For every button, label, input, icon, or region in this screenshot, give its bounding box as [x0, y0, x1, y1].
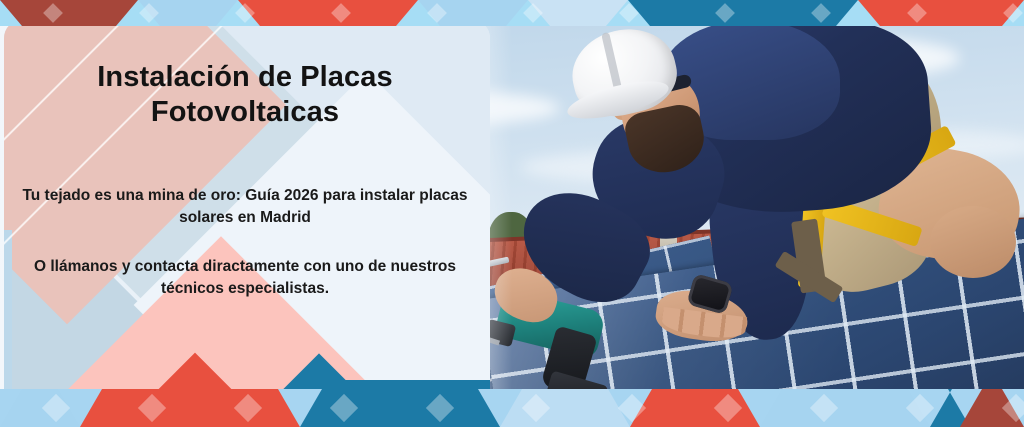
border-segment-brick-red	[0, 0, 138, 26]
border-segment-pale-blue	[500, 389, 630, 427]
hero-text-block: Instalación de Placas Fotovoltaicas Tu t…	[10, 60, 480, 316]
border-top	[0, 0, 1024, 26]
worker-knee	[930, 206, 1016, 278]
border-segment-pale-blue	[528, 0, 628, 26]
border-segment-bright-red	[80, 389, 300, 427]
subtitle-secondary: O llámanos y contacta diractamente con u…	[10, 256, 480, 301]
page-title: Instalación de Placas Fotovoltaicas	[10, 60, 480, 131]
border-segment-bright-red	[858, 0, 1024, 26]
border-segment-bright-red	[238, 0, 418, 26]
border-bottom	[0, 389, 1024, 427]
border-segment-light-blue	[760, 389, 930, 427]
solar-installation-hero-banner: Instalación de Placas Fotovoltaicas Tu t…	[0, 0, 1024, 427]
title-line-1: Instalación de Placas	[97, 61, 392, 93]
title-line-2: Fotovoltaicas	[10, 95, 480, 130]
subtitle-primary: Tu tejado es una mina de oro: Guía 2026 …	[10, 185, 480, 230]
